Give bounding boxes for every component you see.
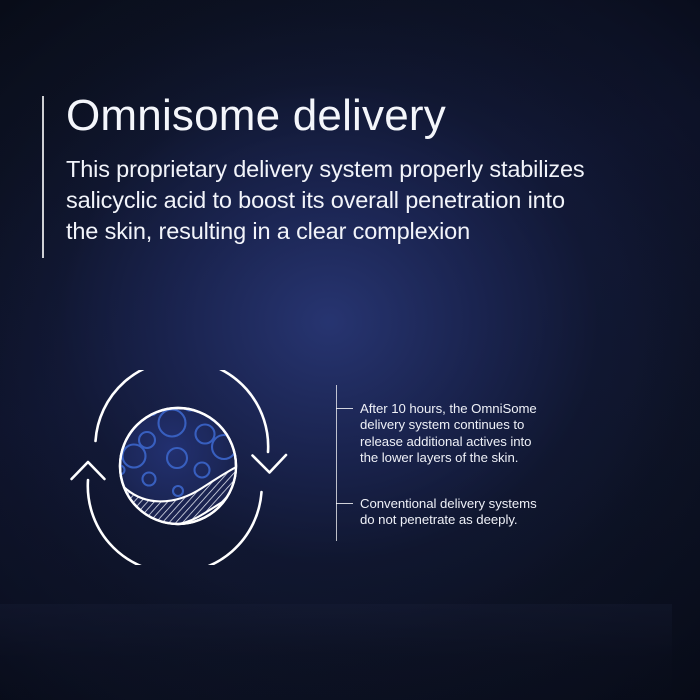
header-description-line: This proprietary delivery system properl… (66, 154, 652, 185)
callout-line: the lower layers of the skin. (360, 450, 586, 466)
callout-text: Conventional delivery systems do not pen… (360, 496, 586, 529)
background-sheen (0, 604, 672, 700)
callout-group: After 10 hours, the OmniSome delivery sy… (336, 382, 586, 544)
accent-rule (42, 96, 44, 258)
callout-line: delivery system continues to (360, 417, 586, 433)
header-description-line: salicyclic acid to boost its overall pen… (66, 185, 652, 216)
page-title: Omnisome delivery (66, 94, 652, 138)
callout-line: Conventional delivery systems (360, 496, 586, 512)
header-block: Omnisome delivery This proprietary deliv… (42, 94, 652, 247)
callout-line: release additional actives into (360, 434, 586, 450)
callout-tick-icon (336, 503, 353, 504)
callout-line: do not penetrate as deeply. (360, 512, 586, 528)
callout-tick-icon (336, 408, 353, 409)
omnisome-delivery-diagram (55, 370, 300, 565)
callout-omnisome-benefit: After 10 hours, the OmniSome delivery sy… (336, 401, 586, 467)
callout-conventional-comparison: Conventional delivery systems do not pen… (336, 496, 586, 529)
bubble-icon (124, 415, 136, 427)
callout-text: After 10 hours, the OmniSome delivery sy… (360, 401, 586, 467)
callout-line: After 10 hours, the OmniSome (360, 401, 586, 417)
bubble-icon (227, 423, 238, 434)
slide-canvas: Omnisome delivery This proprietary deliv… (0, 0, 700, 700)
header-description: This proprietary delivery system properl… (66, 154, 652, 247)
header-description-line: the skin, resulting in a clear complexio… (66, 216, 652, 247)
